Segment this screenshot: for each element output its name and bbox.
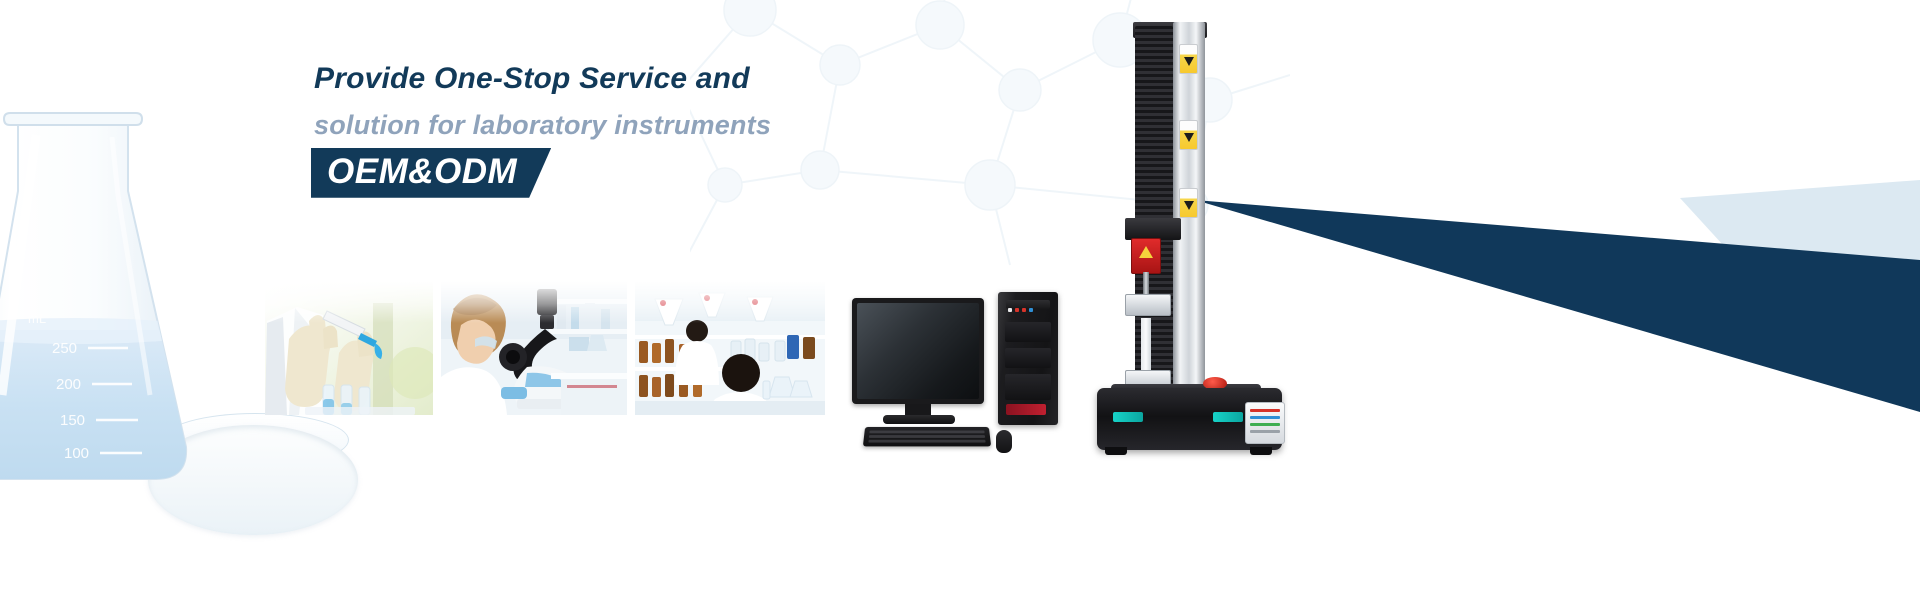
tower-brand-logo <box>1006 404 1046 415</box>
tower-panel-mid <box>1005 348 1051 368</box>
photo-laboratory-workers <box>635 281 825 415</box>
svg-text:150: 150 <box>60 412 85 429</box>
svg-text:mL: mL <box>28 311 46 326</box>
svg-text:200: 200 <box>56 376 81 393</box>
tester-foot <box>1250 447 1272 455</box>
svg-text:250: 250 <box>52 340 77 357</box>
oem-odm-label: OEM&ODM <box>327 153 517 191</box>
light-blue-arrow-wedge <box>1680 180 1920 400</box>
headline-primary: Provide One-Stop Service and <box>314 62 750 96</box>
banner-root: 250 200 150 100 mL Provide One-Stop Serv… <box>0 0 1920 597</box>
photo-3-artwork <box>635 281 825 415</box>
warning-label-icon <box>1179 120 1198 150</box>
universal-tensile-testing-machine <box>1095 22 1295 447</box>
headline-secondary: solution for laboratory instruments <box>314 110 771 141</box>
tester-accent-light <box>1213 412 1243 422</box>
tower-indicator-leds <box>1008 308 1033 312</box>
tester-specimen <box>1141 318 1151 378</box>
tester-crosshead <box>1125 218 1181 240</box>
tester-control-panel[interactable] <box>1245 402 1285 444</box>
monitor-base <box>883 415 955 424</box>
tower-panel-upper <box>1005 322 1051 342</box>
keyboard <box>863 427 991 446</box>
tester-accent-light <box>1113 412 1143 422</box>
desktop-computer <box>850 290 1070 455</box>
tester-foot <box>1105 447 1127 455</box>
erlenmeyer-flask-icon: 250 200 150 100 mL <box>0 95 210 495</box>
photo-gloved-hands-pipette <box>265 281 433 415</box>
oem-odm-ribbon: OEM&ODM <box>311 148 551 198</box>
photo-strip <box>265 281 825 415</box>
photo-researcher-microscope <box>441 281 627 415</box>
tower-panel-lower <box>1005 374 1051 400</box>
svg-text:100: 100 <box>64 445 89 462</box>
computer-tower <box>998 292 1058 425</box>
monitor-screen <box>857 303 979 399</box>
warning-label-icon <box>1179 188 1198 218</box>
tester-load-cell <box>1131 238 1161 274</box>
dark-navy-arrow-wedge <box>1195 150 1920 560</box>
photo-2-artwork <box>441 281 627 415</box>
photo-1-artwork <box>265 281 433 415</box>
monitor <box>852 298 984 404</box>
warning-label-icon <box>1179 44 1198 74</box>
mouse <box>996 430 1012 453</box>
tester-upper-grip <box>1125 294 1171 316</box>
